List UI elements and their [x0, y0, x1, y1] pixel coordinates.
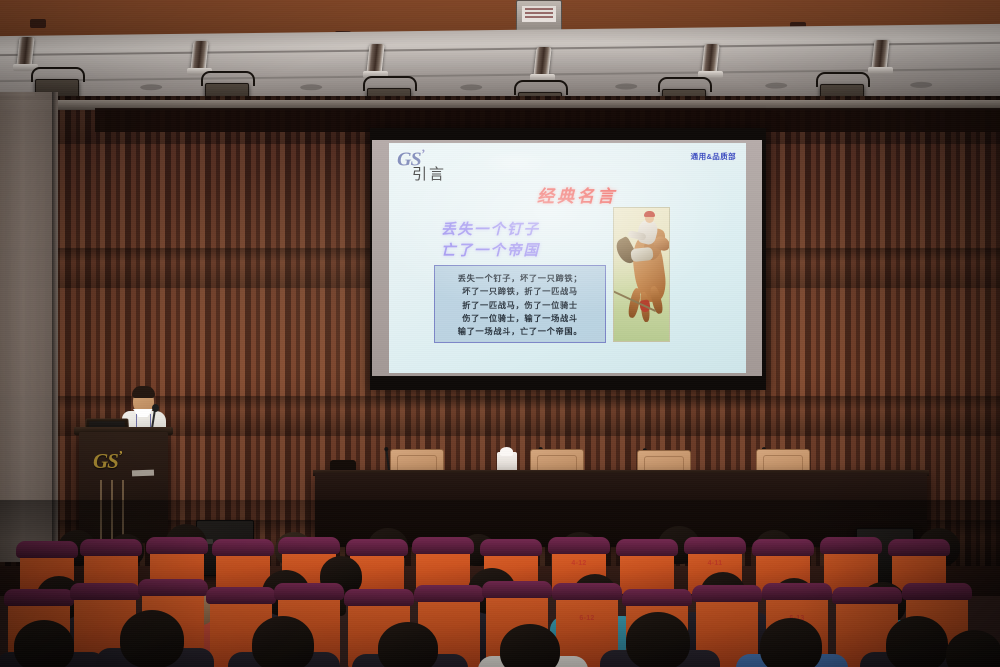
seat-headrest: [622, 589, 692, 606]
projected-slide: GS’ 通用&品质部 引言 经典名言 丢失一个钉子 亡了一个帝国 丢失一个钉子，…: [389, 143, 746, 373]
seat-headrest: [274, 583, 344, 600]
left-column-edge: [52, 92, 57, 562]
quote-line-1: 丢失一个钉子，坏了一只蹄铁；: [440, 272, 600, 285]
audience-head-f7: [760, 618, 822, 667]
seat-headrest: [692, 585, 762, 602]
seat-headrest: [138, 579, 208, 596]
ceiling-uplight-5: [701, 44, 719, 74]
seat-headrest: [752, 539, 814, 556]
audience-area: 4-124-11 6-126-13: [0, 512, 1000, 667]
seat-headrest: [346, 539, 408, 556]
horse-saddle: [630, 247, 653, 262]
seat-headrest: [616, 539, 678, 556]
seat-headrest: [70, 583, 140, 600]
seat-headrest: [414, 585, 484, 602]
ceiling-fixture-1: [30, 19, 46, 28]
seat-headrest: [762, 583, 832, 600]
seat-number-label: 4-11: [688, 560, 742, 567]
quote-line-4: 伤了一位骑士，输了一场战斗: [440, 312, 600, 325]
audience-head-f4: [378, 622, 438, 667]
auditorium-scene: GS’ 通用&品质部 引言 经典名言 丢失一个钉子 亡了一个帝国 丢失一个钉子，…: [0, 0, 1000, 667]
seat-headrest: [548, 537, 610, 554]
gs-logo-mark: ’: [421, 146, 424, 161]
seat-headrest: [480, 539, 542, 556]
seat-headrest: [146, 537, 208, 554]
podium-logo-text: GS: [93, 449, 118, 473]
ceiling-uplight-4: [533, 47, 551, 77]
ceiling-uplight-3: [366, 44, 384, 74]
knight-on-horse-illustration: [613, 207, 670, 342]
rider-helmet: [644, 211, 655, 217]
audience-head-f8: [886, 616, 948, 667]
ceiling-uplight-1: [16, 37, 34, 67]
presenter-hair: [132, 386, 155, 398]
seat-headrest: [278, 537, 340, 554]
podium-logo-mark: ’: [118, 449, 122, 464]
seat-headrest: [482, 581, 552, 598]
left-wall-column: [0, 92, 58, 562]
seat-number-label: 6-12: [556, 615, 618, 622]
slide-purple-subtitle: 丢失一个钉子 亡了一个帝国: [441, 220, 540, 262]
audience-head-f5: [500, 624, 560, 667]
slide-quote-box: 丢失一个钉子，坏了一只蹄铁； 坏了一只蹄铁，折了一匹战马 折了一匹战马，伤了一位…: [434, 265, 606, 343]
seat-headrest: [552, 583, 622, 600]
quote-line-2: 坏了一只蹄铁，折了一匹战马: [440, 285, 600, 298]
purple-line-2: 亡了一个帝国: [441, 241, 540, 262]
seat-number-label: 4-12: [552, 560, 606, 567]
seat-headrest: [16, 541, 78, 558]
audience-head-f2: [120, 610, 184, 667]
seat-headrest: [684, 537, 746, 554]
audience-head-f9: [946, 630, 1000, 667]
audience-seat: [620, 548, 674, 594]
audience-head-f1: [14, 620, 74, 667]
audience-head-f3: [252, 616, 314, 667]
seat-headrest: [344, 589, 414, 606]
seat-headrest: [820, 537, 882, 554]
audience-head-f6: [626, 612, 690, 667]
podium-microphone-icon: [152, 404, 159, 412]
slide-department-label: 通用&品质部: [691, 151, 736, 162]
ceiling-uplight-2: [190, 41, 208, 71]
seat-headrest: [832, 587, 902, 604]
projector-label: [522, 6, 556, 22]
seat-headrest: [206, 587, 276, 604]
podium-papers: [132, 470, 154, 477]
slide-red-title: 经典名言: [537, 182, 617, 207]
seat-headrest: [4, 589, 74, 606]
quote-line-3: 折了一匹战马，伤了一位骑士: [440, 299, 600, 312]
seat-headrest: [412, 537, 474, 554]
ceiling-uplight-base-6: [868, 67, 893, 74]
purple-line-1: 丢失一个钉子: [441, 220, 540, 241]
seat-headrest: [902, 583, 972, 600]
quote-line-5: 输了一场战斗，亡了一个帝国。: [440, 325, 600, 338]
seat-headrest: [888, 539, 950, 556]
seat-headrest: [80, 539, 142, 556]
slide-heading: 引言: [412, 163, 446, 184]
seat-headrest: [212, 539, 274, 556]
ceiling-uplight-6: [871, 40, 889, 70]
podium-gs-logo-icon: GS’: [93, 449, 122, 474]
